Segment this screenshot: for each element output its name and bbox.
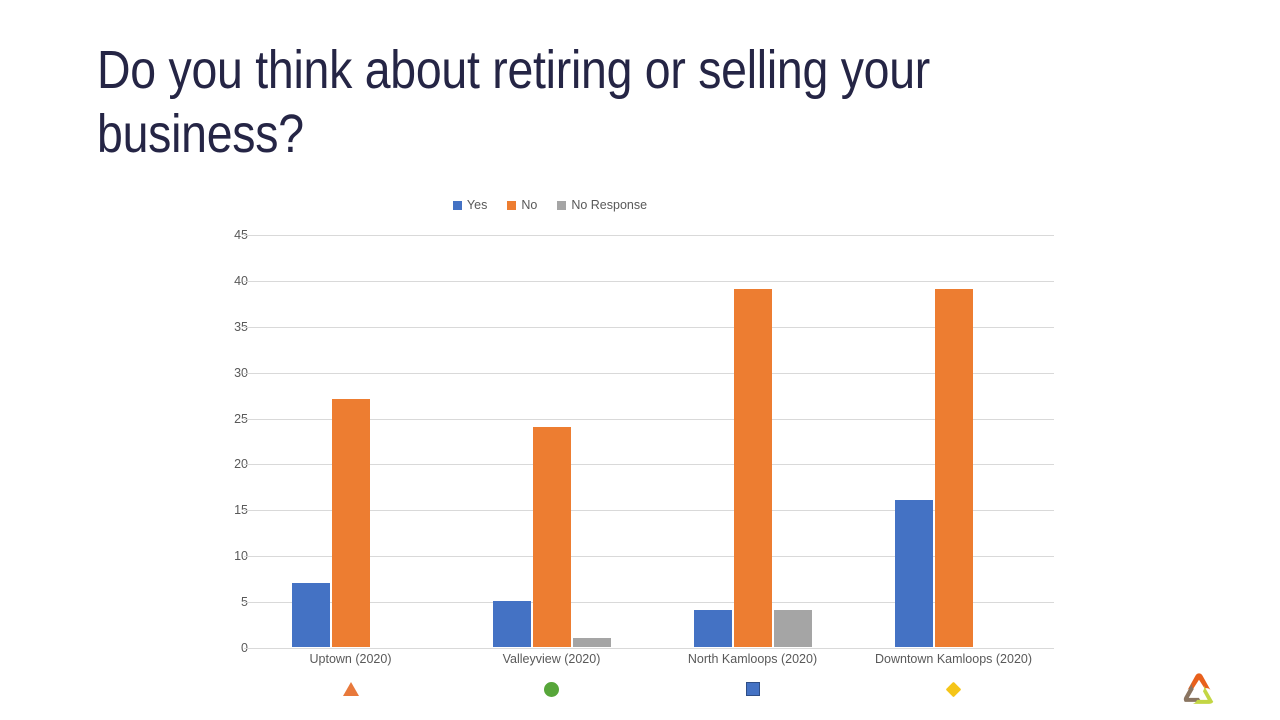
gridline [250,648,1054,649]
y-axis-tick-label: 15 [188,503,248,517]
bar-group [451,234,652,647]
bar-group [652,234,853,647]
chart-x-axis-labels: Uptown (2020)Valleyview (2020)North Kaml… [250,652,1054,666]
bar-no-response[interactable] [774,610,812,647]
y-axis-tick-label: 10 [188,549,248,563]
y-axis-tick-label: 5 [188,595,248,609]
y-axis-tick-label: 30 [188,366,248,380]
square-marker-icon [746,682,760,696]
y-axis-tick-label: 0 [188,641,248,655]
marker-cell [853,680,1054,698]
bar-yes[interactable] [292,583,330,647]
legend-swatch-icon [507,201,516,210]
chart-bar-groups [250,234,1054,647]
legend-item-no[interactable]: No [507,198,537,212]
circle-marker-icon [544,682,559,697]
legend-swatch-icon [557,201,566,210]
y-axis-tick-label: 25 [188,412,248,426]
triangle-marker-icon [343,682,359,696]
y-axis-tick-mark [244,648,250,649]
bar-yes[interactable] [694,610,732,647]
bar-yes[interactable] [895,500,933,647]
x-axis-category-label: Valleyview (2020) [451,652,652,666]
bar-chart: YesNoNo Response 051015202530354045 Upto… [0,190,1100,700]
marker-cell [652,680,853,698]
bar-no[interactable] [935,289,973,647]
y-axis-tick-label: 20 [188,457,248,471]
y-axis-tick-label: 45 [188,228,248,242]
x-axis-category-label: North Kamloops (2020) [652,652,853,666]
company-logo [1179,671,1219,709]
bar-no[interactable] [734,289,772,647]
chart-category-markers [250,680,1054,698]
legend-item-no-response[interactable]: No Response [557,198,647,212]
x-axis-category-label: Downtown Kamloops (2020) [853,652,1054,666]
bar-yes[interactable] [493,601,531,647]
chart-legend: YesNoNo Response [0,198,1100,212]
legend-label: No Response [571,198,647,212]
bar-no[interactable] [533,427,571,647]
bar-group [853,234,1054,647]
y-axis-tick-label: 40 [188,274,248,288]
bar-no-response[interactable] [573,638,611,647]
bar-group [250,234,451,647]
marker-cell [451,680,652,698]
legend-label: Yes [467,198,487,212]
legend-swatch-icon [453,201,462,210]
bar-no[interactable] [332,399,370,647]
diamond-marker-icon [946,681,962,697]
legend-item-yes[interactable]: Yes [453,198,487,212]
marker-cell [250,680,451,698]
chart-plot-area: 051015202530354045 [250,235,1054,648]
legend-label: No [521,198,537,212]
page-title: Do you think about retiring or selling y… [97,38,966,166]
x-axis-category-label: Uptown (2020) [250,652,451,666]
y-axis-tick-label: 35 [188,320,248,334]
